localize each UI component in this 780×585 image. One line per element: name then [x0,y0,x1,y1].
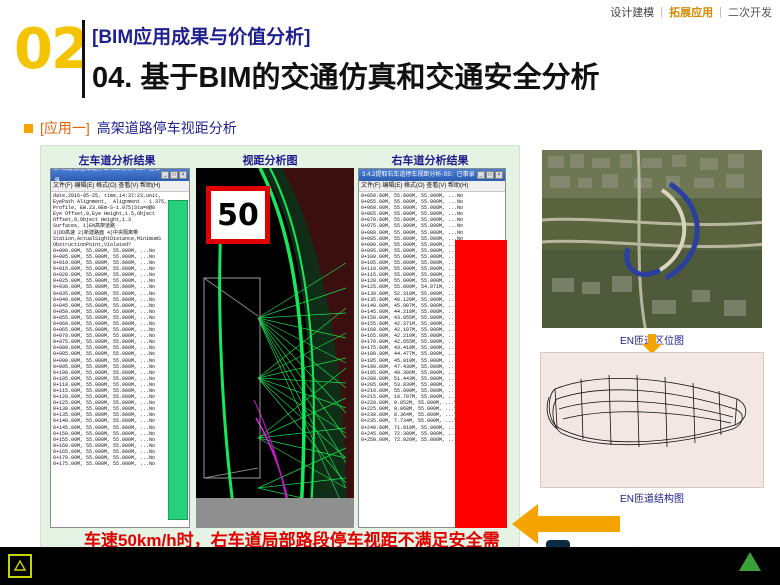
left-lane-label: 左车道分析结果 [52,152,182,168]
close-icon[interactable]: × [179,171,187,179]
minimize-icon[interactable]: _ [477,171,485,179]
arrow-down-icon-1 [640,334,664,354]
section-number: 02 [14,22,88,78]
left-window-buttons[interactable]: _ □ × [161,171,189,179]
footer-logo-left-icon [8,554,32,578]
bullet-tag: [应用一] [40,118,90,138]
aerial-photo [540,148,764,330]
title-divider [82,20,85,98]
nav-item-design[interactable]: 设计建模 [610,4,654,20]
speed-limit-sign: 50 [206,186,270,244]
right-window-titlebar[interactable]: 3.4.2提取右车道停车视距分析-S5：已事录 _ □ × [359,169,505,181]
maximize-icon[interactable]: □ [170,171,178,179]
nav-separator-1: | [660,6,663,18]
top-nav: 设计建模 | 拓展应用 | 二次开发 [610,4,772,20]
square-bullet-icon [24,124,33,133]
right-window-title: 3.4.2提取右车道停车视距分析-S5：已事录 [362,169,475,181]
close-icon[interactable]: × [495,171,503,179]
aerial-photo-graphic [542,150,764,330]
right-window-buttons[interactable]: _ □ × [477,171,505,179]
left-window-titlebar[interactable]: 3.4.1提取左车道停车视距分析-S5：已事录 _ □ × [51,169,189,181]
sight-diagram-label: 视距分析图 [215,152,325,168]
right-window-menubar[interactable]: 文件(F) 编辑(E) 格式(O) 查看(V) 帮助(H) [359,181,505,192]
viewport-statusbar [196,498,354,528]
wireframe-model [540,352,764,488]
footer-logo-right [739,552,766,571]
right-lane-label: 右车道分析结果 [360,152,500,168]
maximize-icon[interactable]: □ [486,171,494,179]
bullet-text: 高架道路停车视距分析 [97,118,237,138]
nav-item-development[interactable]: 二次开发 [728,4,772,20]
section-subtitle: [BIM应用成果与价值分析] [92,22,310,49]
wireframe-graphic [541,353,764,488]
footer-triangle-icon [739,552,761,571]
minimize-icon[interactable]: _ [161,171,169,179]
left-lane-pass-indicator [168,200,188,520]
footer-bar [0,547,780,585]
nav-item-extended[interactable]: 拓展应用 [669,4,713,20]
right-lane-fail-indicator [455,240,507,528]
left-window-menubar[interactable]: 文件(F) 编辑(E) 格式(O) 查看(V) 帮助(H) [51,181,189,192]
page-title: 04. 基于BIM的交通仿真和交通安全分析 [92,54,600,96]
nav-separator-2: | [719,6,722,18]
bullet-row: [应用一] 高架道路停车视距分析 [24,118,237,138]
